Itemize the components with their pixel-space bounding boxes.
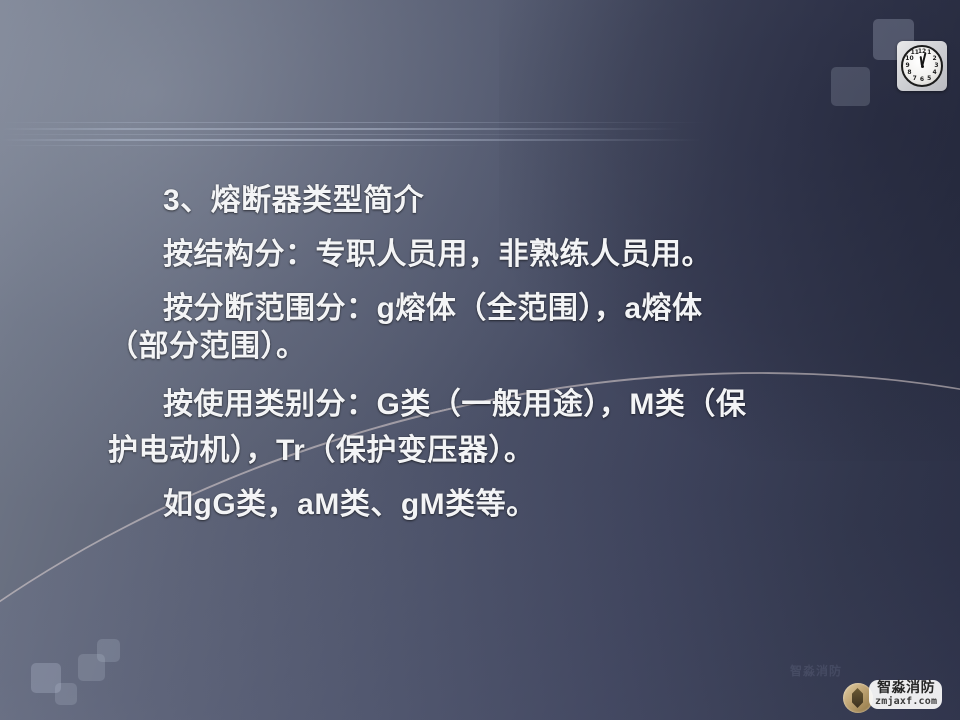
watermark: 智淼消防 zmjaxf.com — [843, 680, 955, 718]
slide-canvas: 12 1 2 3 4 5 6 7 8 9 10 11 3、熔断器类型简介 按结构… — [0, 0, 960, 720]
slide-line-examples: 如gG类，aM类、gM类等。 — [163, 482, 537, 528]
slide-line-category-2: 护电动机），Tr（保护变压器）。 — [108, 428, 534, 474]
slide-heading: 3、熔断器类型简介 — [163, 178, 424, 224]
watermark-url: zmjaxf.com — [875, 696, 937, 707]
watermark-brand: 智淼消防 — [875, 681, 937, 696]
slide-text-block: 3、熔断器类型简介 按结构分：专职人员用，非熟练人员用。 按分断范围分：g熔体（… — [0, 0, 960, 720]
watermark-label: 智淼消防 zmjaxf.com — [869, 680, 942, 709]
slide-line-category-1: 按使用类别分：G类（一般用途），M类（保 — [163, 382, 746, 428]
slide-line-structure: 按结构分：专职人员用，非熟练人员用。 — [163, 232, 712, 278]
slide-line-range-2: （部分范围）。 — [108, 324, 307, 370]
